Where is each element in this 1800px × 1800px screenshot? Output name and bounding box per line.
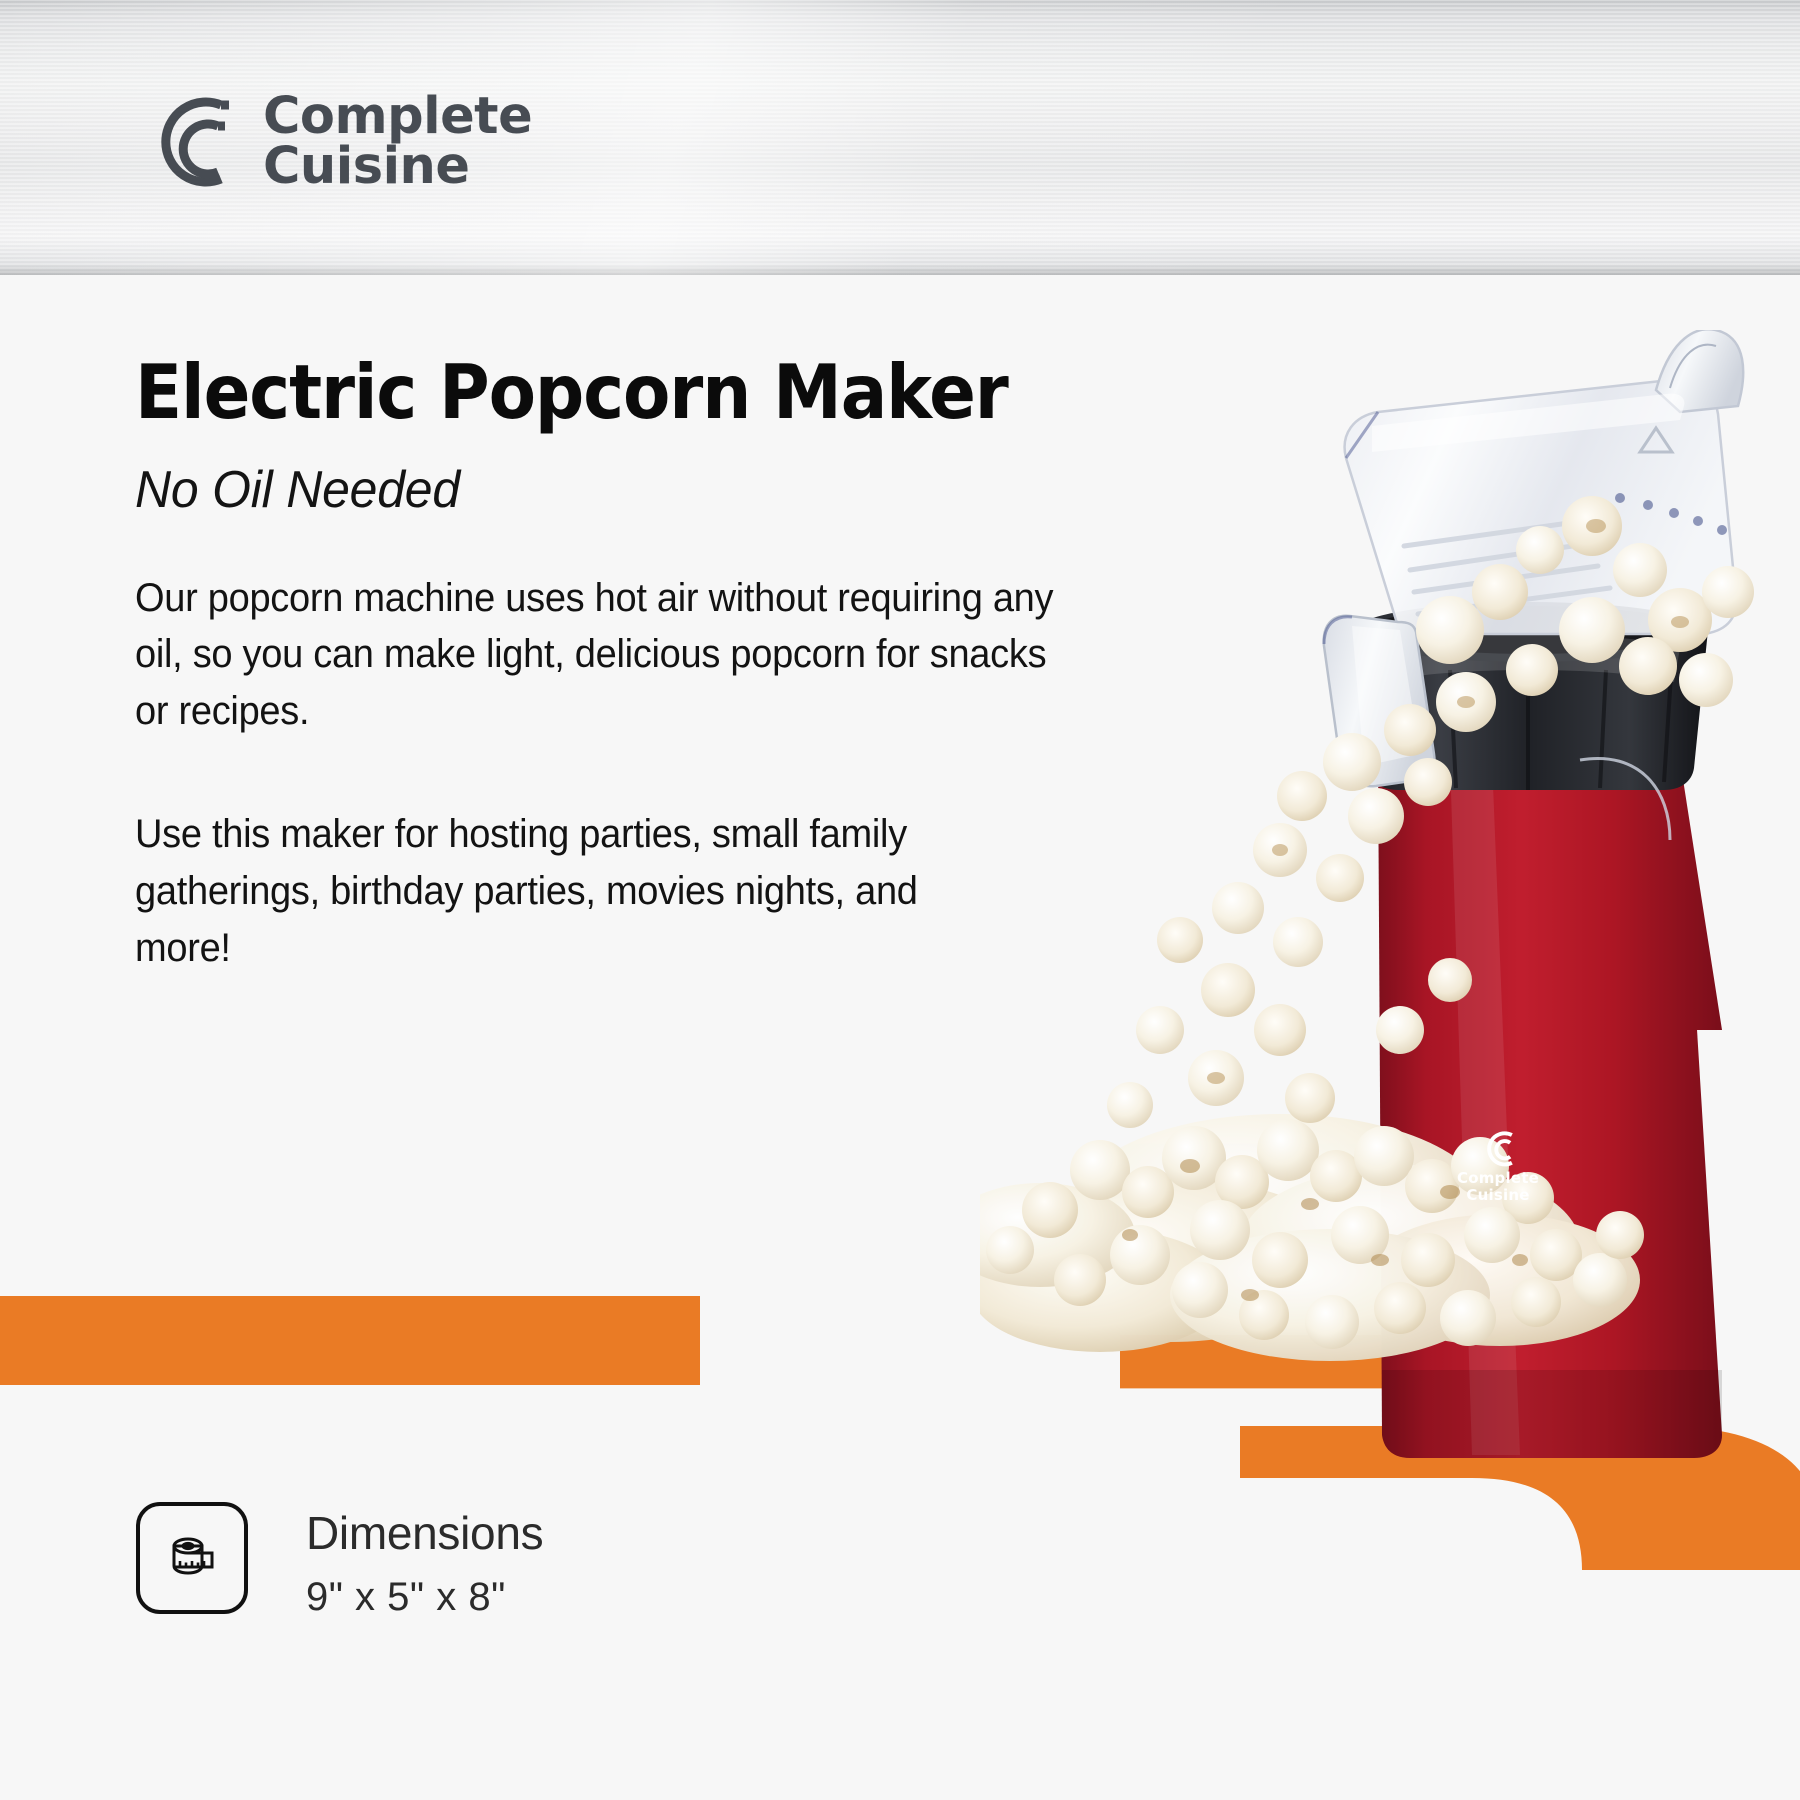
product-body-logo-mark-icon <box>1472 1128 1524 1168</box>
page-title: Electric Popcorn Maker <box>135 355 1055 430</box>
product-body-logo-line-1: Complete <box>1457 1169 1539 1187</box>
product-body-logo: Complete Cuisine <box>1450 1128 1546 1204</box>
dimensions-icon-frame <box>136 1502 248 1614</box>
page-subtitle: No Oil Needed <box>135 463 1095 518</box>
tape-measure-icon <box>160 1524 224 1593</box>
description-paragraph-2: Use this maker for hosting parties, smal… <box>135 806 924 976</box>
dimensions-texts: Dimensions 9" x 5" x 8" <box>306 1502 543 1619</box>
brand-logo-line-2: Cuisine <box>263 137 469 196</box>
accent-bar-left <box>0 1296 700 1385</box>
dimensions-value: 9" x 5" x 8" <box>306 1575 543 1619</box>
dimensions-label: Dimensions <box>306 1508 543 1559</box>
accent-swoosh-right <box>1120 1230 1800 1570</box>
brand-logo: Complete Cuisine <box>133 88 532 196</box>
dimensions-spec: Dimensions 9" x 5" x 8" <box>136 1502 543 1619</box>
complete-cuisine-c-mark-icon <box>133 88 241 196</box>
product-body-logo-line-2: Cuisine <box>1466 1186 1529 1204</box>
description-paragraph-1: Our popcorn machine uses hot air without… <box>135 570 1085 740</box>
brand-logo-text: Complete Cuisine <box>263 92 532 192</box>
product-copy-block: Electric Popcorn Maker No Oil Needed Our… <box>135 355 1135 976</box>
